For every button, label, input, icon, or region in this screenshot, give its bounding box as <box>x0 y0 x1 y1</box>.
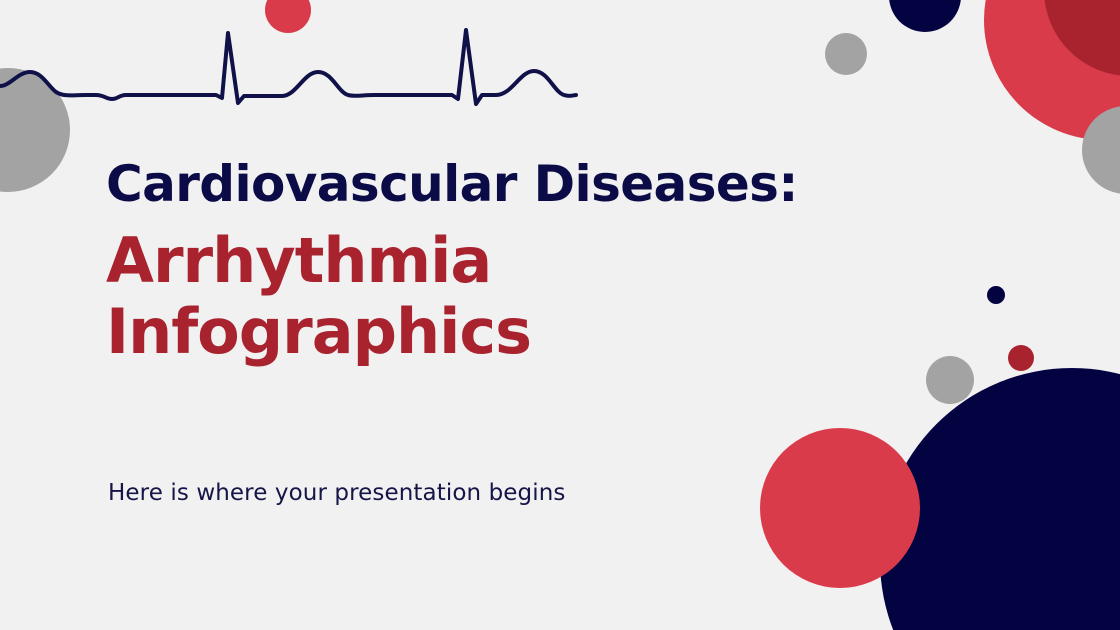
gray-circle-top-right <box>825 33 867 75</box>
navy-dot-small <box>987 286 1005 304</box>
page-title-line-1: Cardiovascular Diseases: <box>106 158 866 212</box>
red-ring-outer-top-right <box>984 0 1120 140</box>
title-block: Cardiovascular Diseases: Arrhythmia Info… <box>106 158 866 366</box>
gray-circle-left-edge <box>0 68 70 192</box>
subtitle-tagline: Here is where your presentation begins <box>108 480 566 506</box>
page-title-line-3: Infographics <box>106 297 866 366</box>
navy-circle-bottom-right <box>880 368 1120 630</box>
ecg-waveform-path <box>0 30 576 104</box>
red-dot-over-ecg <box>265 0 311 33</box>
gray-circle-right-edge <box>1082 106 1120 194</box>
dark-red-dot-small <box>1008 345 1034 371</box>
presentation-slide: Cardiovascular Diseases: Arrhythmia Info… <box>0 0 1120 630</box>
gray-circle-mid-right <box>926 356 974 404</box>
red-ring-inner-top-right <box>1044 0 1120 76</box>
red-circle-bottom-right <box>760 428 920 588</box>
page-title-line-2: Arrhythmia <box>106 226 866 295</box>
navy-circle-top-right <box>889 0 961 32</box>
